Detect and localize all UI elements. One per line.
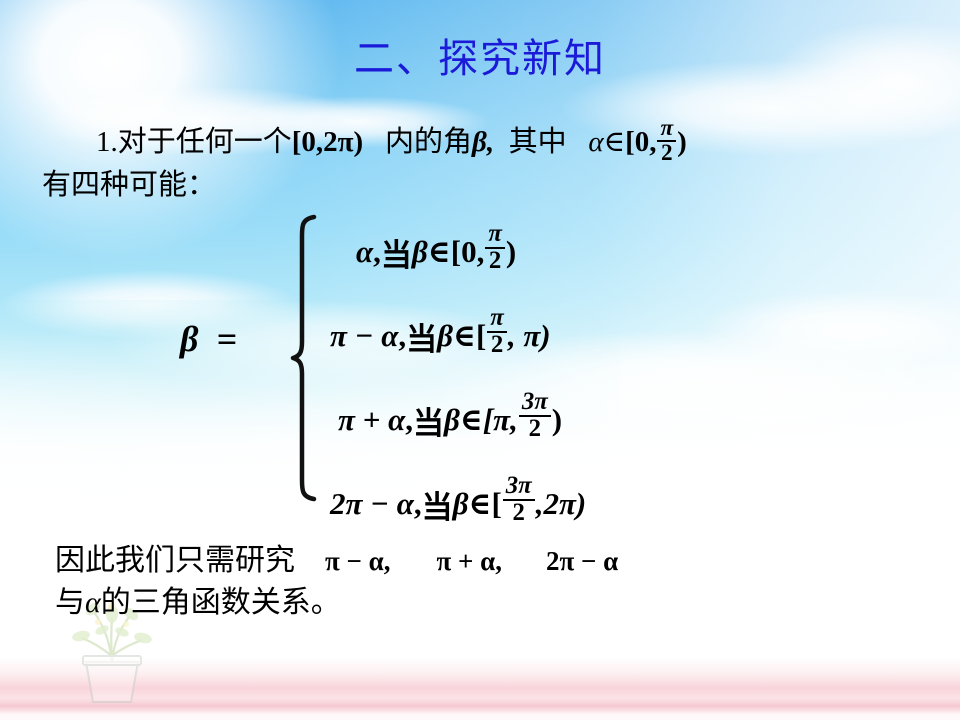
case3-var: β (444, 402, 460, 438)
para1-interval: [0,2π) (292, 126, 363, 158)
slide-canvas: 二、探究新知 1.对于任何一个[0,2π) 内的角β, 其中 α∈[0,π2) … (0, 0, 960, 720)
case3-frac-denominator: 2 (519, 415, 551, 442)
item-number: 1. (96, 126, 118, 158)
case1-in-symbol: ∈ (428, 234, 451, 270)
case2-frac-numerator: π (487, 306, 507, 331)
para1-in-symbol: ∈ (604, 126, 625, 158)
para2-expression-1: π − α, (325, 543, 391, 581)
para2-line2-alpha: α (85, 586, 101, 619)
case1-bracket-open: [0, (451, 234, 485, 270)
para1-text-before: 对于任何一个 (118, 126, 292, 158)
paragraph-two: 因此我们只需研究π − α,π + α,2π − α 与α的三角函数关系。 (55, 540, 935, 624)
para1-text-where: 其中 (509, 126, 567, 158)
case3-fraction: 3π2 (519, 390, 551, 442)
case4-bracket-open: [ (491, 486, 501, 522)
case3-comma: , (405, 402, 413, 438)
case3-value: π + α (338, 402, 405, 438)
para2-expression-3: 2π − α (546, 543, 618, 581)
case1-var: β (412, 234, 428, 270)
slide-title: 二、探究新知 (0, 36, 960, 82)
case1-frac-numerator: π (485, 222, 505, 247)
case2-when: 当 (406, 314, 437, 359)
piecewise-left-hand-side: β = (180, 318, 237, 360)
piecewise-equals: = (216, 319, 237, 359)
para1-frac-numerator: π (657, 117, 676, 140)
case2-in-symbol: ∈ (453, 318, 476, 354)
case1-frac-denominator: 2 (485, 247, 505, 274)
para2-expression-2: π + α, (437, 543, 503, 581)
para1-bracket-open: [0, (625, 126, 656, 158)
case4-var: β (453, 486, 469, 522)
case2-tail: , π) (508, 318, 551, 354)
para1-bracket-close: ) (677, 126, 687, 158)
para1-line2: 有四种可能： (42, 168, 932, 203)
case3-frac-numerator: 3π (519, 390, 551, 415)
case3-when: 当 (413, 398, 444, 443)
case1-value: α (356, 234, 373, 270)
case4-value: 2π − α (330, 486, 414, 522)
piecewise-case: π + α,当β ∈[π,3π2) (330, 378, 870, 462)
piecewise-case: π − α,当β ∈[π2, π) (330, 294, 870, 378)
para2-lead: 因此我们只需研究 (55, 544, 295, 577)
case3-tail: ) (552, 402, 562, 438)
case2-fraction: π2 (487, 306, 507, 358)
case2-comma: , (398, 318, 406, 354)
case4-comma: , (414, 486, 422, 522)
case1-fraction: π2 (485, 222, 505, 274)
case4-in-symbol: ∈ (469, 486, 492, 522)
para1-alpha: α (588, 126, 603, 158)
para1-text-middle: 内的角 (385, 126, 472, 158)
case1-when: 当 (381, 230, 412, 275)
case4-when: 当 (422, 482, 453, 527)
case4-frac-denominator: 2 (503, 499, 535, 526)
case4-tail: ,2π) (536, 486, 587, 522)
para2-line2: 与α的三角函数关系。 (55, 582, 935, 624)
case2-frac-denominator: 2 (487, 331, 507, 358)
curly-brace-icon (288, 214, 322, 502)
piecewise-case: 2π − α,当β ∈[3π2,2π) (330, 462, 870, 546)
para1-beta: β, (472, 126, 494, 158)
case2-value: π − α (330, 318, 398, 354)
para1-frac-denominator: 2 (657, 140, 676, 165)
piecewise-cases-list: α,当β ∈[0,π2) π − α,当β ∈[π2, π) π + α,当β … (330, 210, 870, 546)
case3-in-symbol: ∈ (460, 402, 483, 438)
case3-bracket-open: [π, (483, 402, 518, 438)
piecewise-function-block: β = α,当β ∈[0,π2) π − α,当β ∈[π2, π) π + α… (180, 210, 880, 530)
case2-bracket-open: [ (476, 318, 486, 354)
para1-fraction: π2 (657, 117, 676, 165)
case1-comma: , (373, 234, 381, 270)
case1-tail: ) (506, 234, 516, 270)
case4-fraction: 3π2 (503, 474, 535, 526)
para2-line1: 因此我们只需研究π − α,π + α,2π − α (55, 540, 935, 582)
case4-frac-numerator: 3π (503, 474, 535, 499)
paragraph-one: 1.对于任何一个[0,2π) 内的角β, 其中 α∈[0,π2) 有四种可能： (42, 120, 932, 204)
para2-line2-after: 的三角函数关系。 (101, 586, 341, 619)
piecewise-case: α,当β ∈[0,π2) (330, 210, 870, 294)
piecewise-beta: β (180, 319, 198, 359)
para2-line2-before: 与 (55, 586, 85, 619)
case2-var: β (437, 318, 453, 354)
